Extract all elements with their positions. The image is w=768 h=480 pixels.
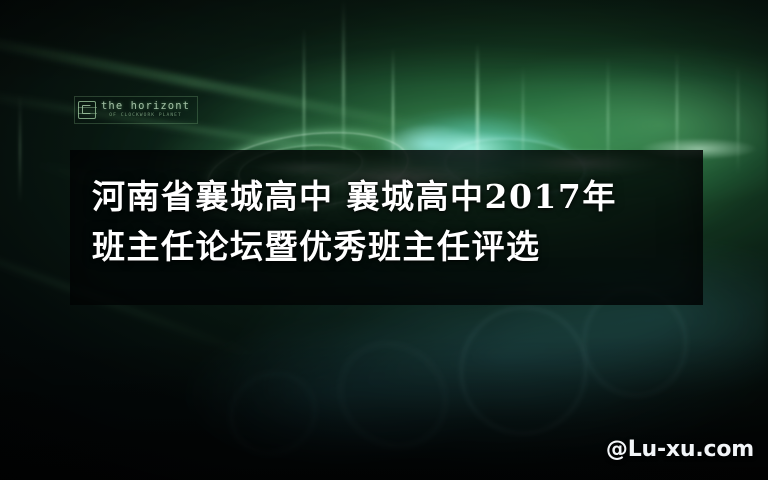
title-line-1: 河南省襄城高中 襄城高中2017年 [92, 172, 692, 222]
video-thumbnail-frame: the horizont OF CLOCKWORK PLANET 河南省襄城高中… [0, 0, 768, 480]
background-smoke-wisp [440, 287, 606, 454]
background-smoke-wisp [217, 359, 330, 469]
title-line-2: 班主任论坛暨优秀班主任评选 [92, 222, 692, 272]
background-flare-ray [342, 0, 345, 173]
background-light-beam [0, 26, 457, 138]
page-title: 河南省襄城高中 襄城高中2017年 班主任论坛暨优秀班主任评选 [92, 172, 692, 272]
the-horizont-logo: the horizont OF CLOCKWORK PLANET [74, 96, 198, 124]
site-watermark: @Lu-xu.com [606, 437, 754, 462]
horizont-g-mark-icon [78, 101, 96, 119]
logo-text-block: the horizont OF CLOCKWORK PLANET [101, 101, 190, 118]
background-flare-ray [737, 67, 739, 173]
background-flare-ray [19, 96, 21, 202]
logo-title: the horizont [101, 101, 190, 112]
background-smoke-wisp [319, 322, 466, 467]
logo-subtitle: OF CLOCKWORK PLANET [101, 114, 190, 119]
